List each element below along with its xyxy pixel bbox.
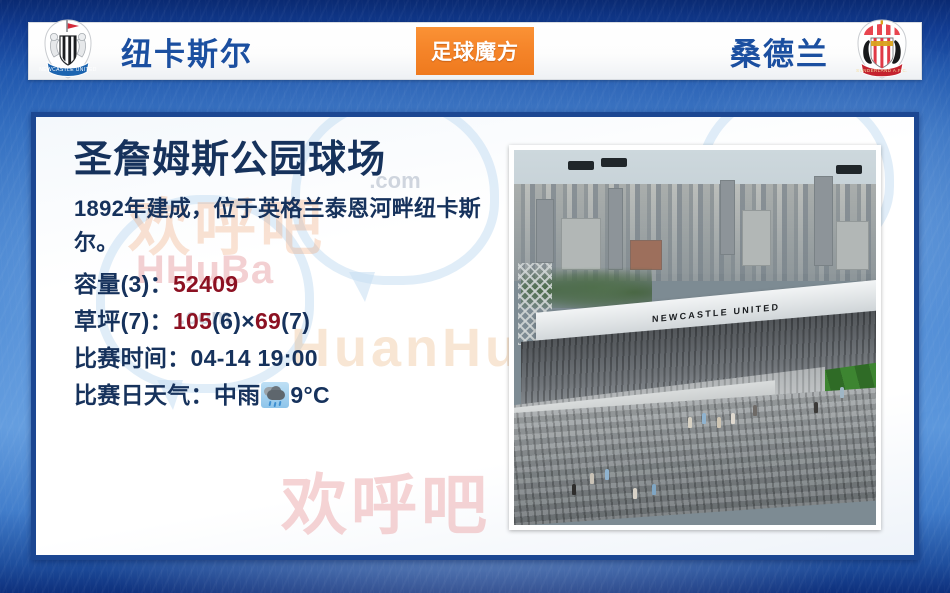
site-brand-logo[interactable]: 足球魔方 [416,27,534,75]
photo-building [836,221,869,270]
home-team-block[interactable]: NEWCASTLE UNITED 纽卡斯尔 [29,23,416,79]
photo-spectator [702,413,706,424]
photo-building [814,176,832,266]
rain-cloud-icon [261,382,289,408]
stadium-detail-panel: HHuBa .com .com .com 欢呼吧 HuanHuBa 欢呼吧 圣詹… [31,112,919,560]
photo-building [742,210,771,266]
stat-pitch-width: 69 [255,308,281,334]
svg-text:NEWCASTLE UNITED: NEWCASTLE UNITED [39,67,97,73]
stat-weather-label: 比赛日天气 [74,382,191,408]
photo-spectator [652,484,656,495]
stat-pitch-separator: ： [150,308,173,334]
photo-building [720,180,734,255]
newcastle-united-crest: NEWCASTLE UNITED [37,18,99,80]
stadium-info-column: 圣詹姆斯公园球场 1892年建成，位于英格兰泰恩河畔纽卡斯尔。 容量(3)：52… [74,139,484,415]
stat-pitch-times: × [241,308,255,334]
site-brand-label: 足球魔方 [431,36,519,66]
stat-weather-value: 中雨 [214,382,261,408]
watermark-huanhuba-bottom: 欢呼吧 [281,452,491,548]
photo-spectator [605,469,609,480]
stat-pitch-label: 草坪(7) [74,308,150,334]
stat-kickoff-separator: ： [167,345,190,371]
stat-kickoff-value: 04-14 19:00 [191,345,318,371]
stat-capacity-separator: ： [150,271,173,297]
photo-building [608,188,622,271]
stadium-photo-frame[interactable]: NEWCASTLE UNITED [509,145,881,530]
stat-weather: 比赛日天气：中雨9°C [74,377,484,414]
photo-spectator [731,413,735,424]
stat-capacity-label: 容量(3) [74,271,150,297]
photo-floodlight [601,158,627,167]
photo-spectator [688,417,692,428]
stat-capacity-value: 52409 [173,271,238,297]
photo-spectator [633,488,637,499]
photo-spectator [590,473,594,484]
stat-weather-temperature: 9°C [290,382,330,408]
stadium-photo: NEWCASTLE UNITED [514,150,876,525]
photo-building [536,199,554,263]
photo-spectator [840,387,844,398]
stat-weather-separator: ： [191,382,214,408]
stat-pitch-length: 105 [173,308,212,334]
away-team-block[interactable]: 桑德兰 SUNDERLAND A.F.C. [534,23,921,79]
stat-pitch: 草坪(7)：105(6)×69(7) [74,303,484,340]
photo-spectator [717,417,721,428]
svg-text:SUNDERLAND A.F.C.: SUNDERLAND A.F.C. [856,68,908,73]
stat-capacity: 容量(3)：52409 [74,266,484,303]
match-header-bar: NEWCASTLE UNITED 纽卡斯尔 足球魔方 桑德兰 [28,22,922,80]
stadium-info-card: NEWCASTLE UNITED 纽卡斯尔 足球魔方 桑德兰 [0,0,950,593]
photo-floodlight [568,161,594,170]
home-team-name: 纽卡斯尔 [121,29,253,74]
stat-kickoff-label: 比赛时间 [74,345,167,371]
sunderland-afc-crest: SUNDERLAND A.F.C. [851,18,913,80]
photo-spectator [814,402,818,413]
away-team-name: 桑德兰 [730,29,829,74]
photo-floodlight [836,165,862,174]
stat-pitch-width-rank: (7) [281,308,310,334]
photo-spectator [572,484,576,495]
stat-pitch-length-rank: (6) [212,308,241,334]
stadium-name: 圣詹姆斯公园球场 [74,139,484,182]
stat-kickoff: 比赛时间：04-14 19:00 [74,340,484,377]
photo-spectator [753,405,757,416]
stadium-description: 1892年建成，位于英格兰泰恩河畔纽卡斯尔。 [74,192,484,260]
